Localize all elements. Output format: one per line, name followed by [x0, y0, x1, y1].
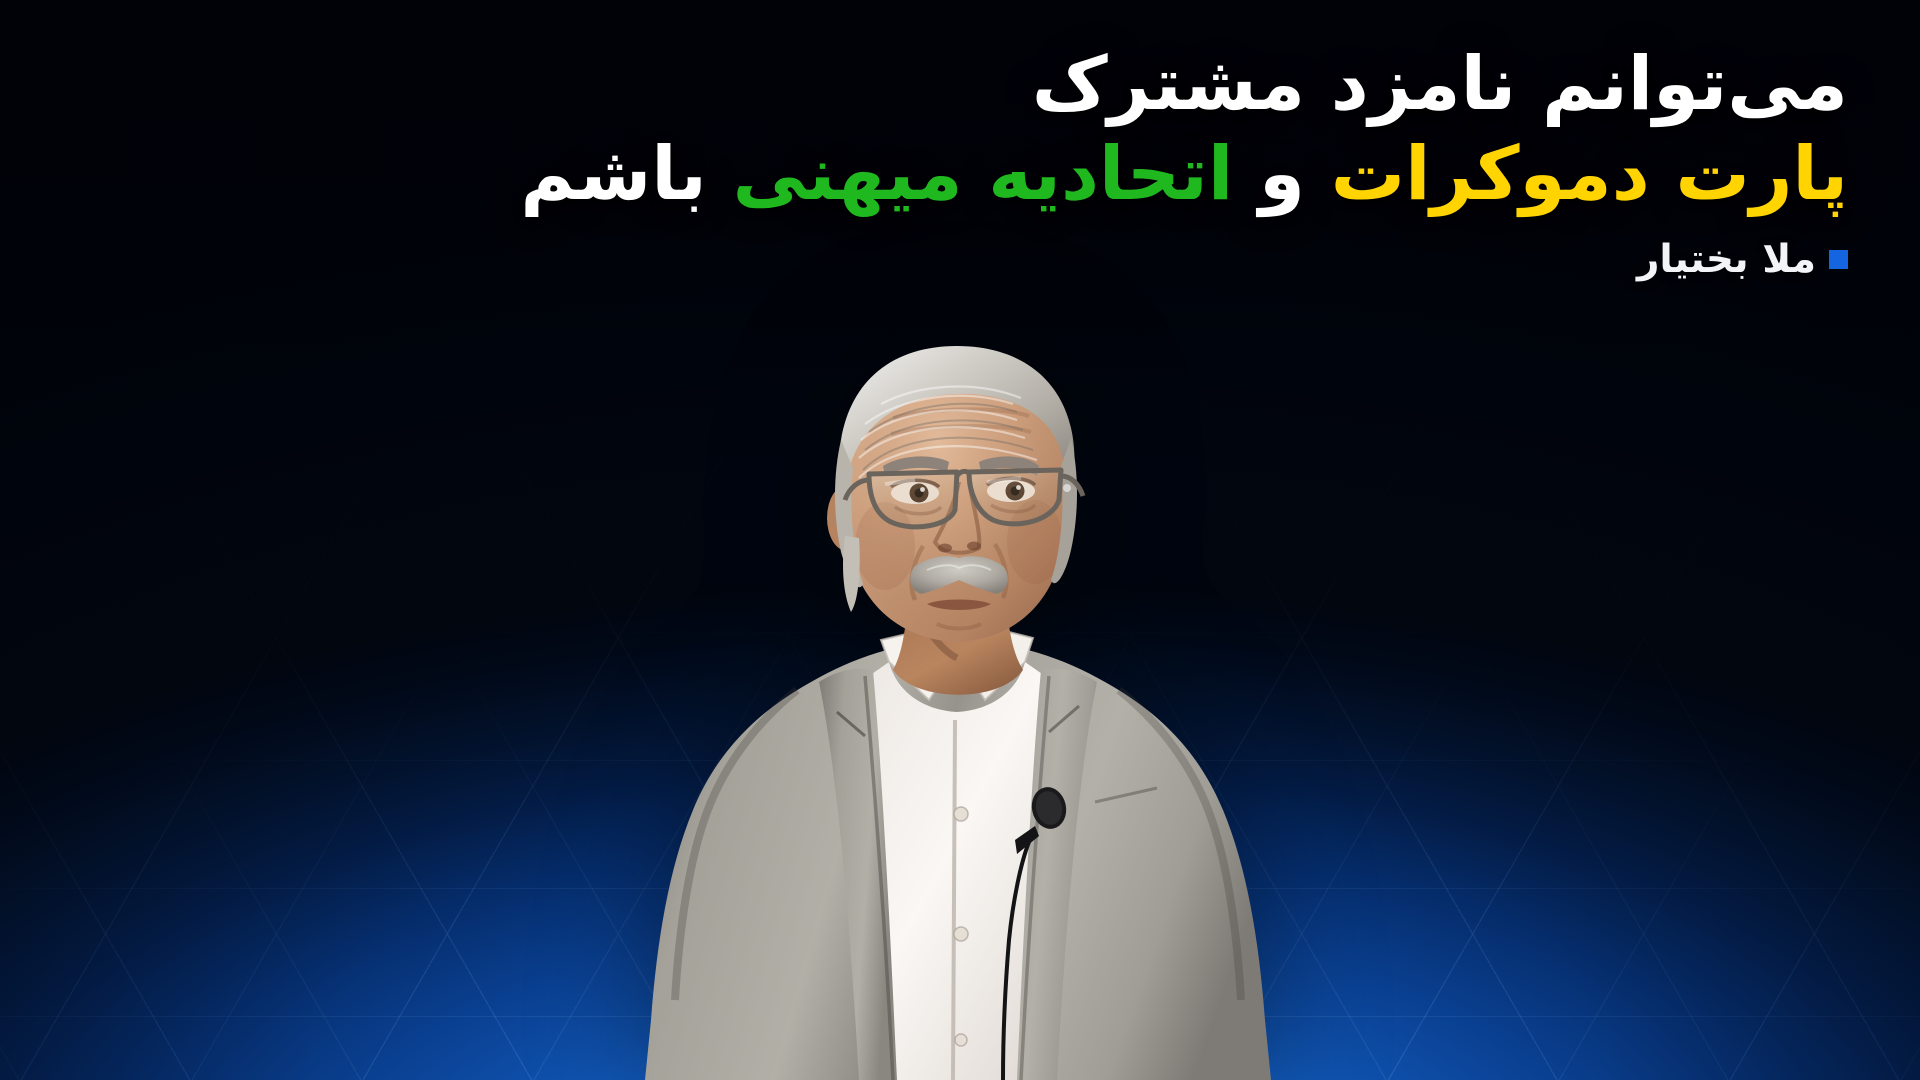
- attribution-bullet-square-icon: [1829, 250, 1848, 269]
- headline-segment-2-1-conjunction: و: [1233, 131, 1331, 217]
- headline-line-1: می‌توانم نامزد مشترک: [368, 42, 1848, 128]
- subject-portrait: [597, 340, 1317, 1080]
- attribution: ملا بختیار: [368, 240, 1848, 279]
- attribution-speaker-name: ملا بختیار: [1637, 240, 1816, 279]
- broadcast-graphic-stage: می‌توانم نامزد مشترک پارت دموکرات و اتحا…: [0, 0, 1920, 1080]
- headline-block: می‌توانم نامزد مشترک پارت دموکرات و اتحا…: [368, 42, 1848, 279]
- headline-segment-2-3-verb: باشم: [520, 131, 732, 217]
- headline-line-2: پارت دموکرات و اتحادیه میهنی باشم: [368, 132, 1848, 218]
- headline-segment-2-2-patriotic-union: اتحادیه میهنی: [733, 131, 1234, 217]
- headline-segment-1-0: می‌توانم نامزد مشترک: [1032, 41, 1848, 127]
- headline-segment-2-0-party-democrat: پارت دموکرات: [1331, 131, 1848, 217]
